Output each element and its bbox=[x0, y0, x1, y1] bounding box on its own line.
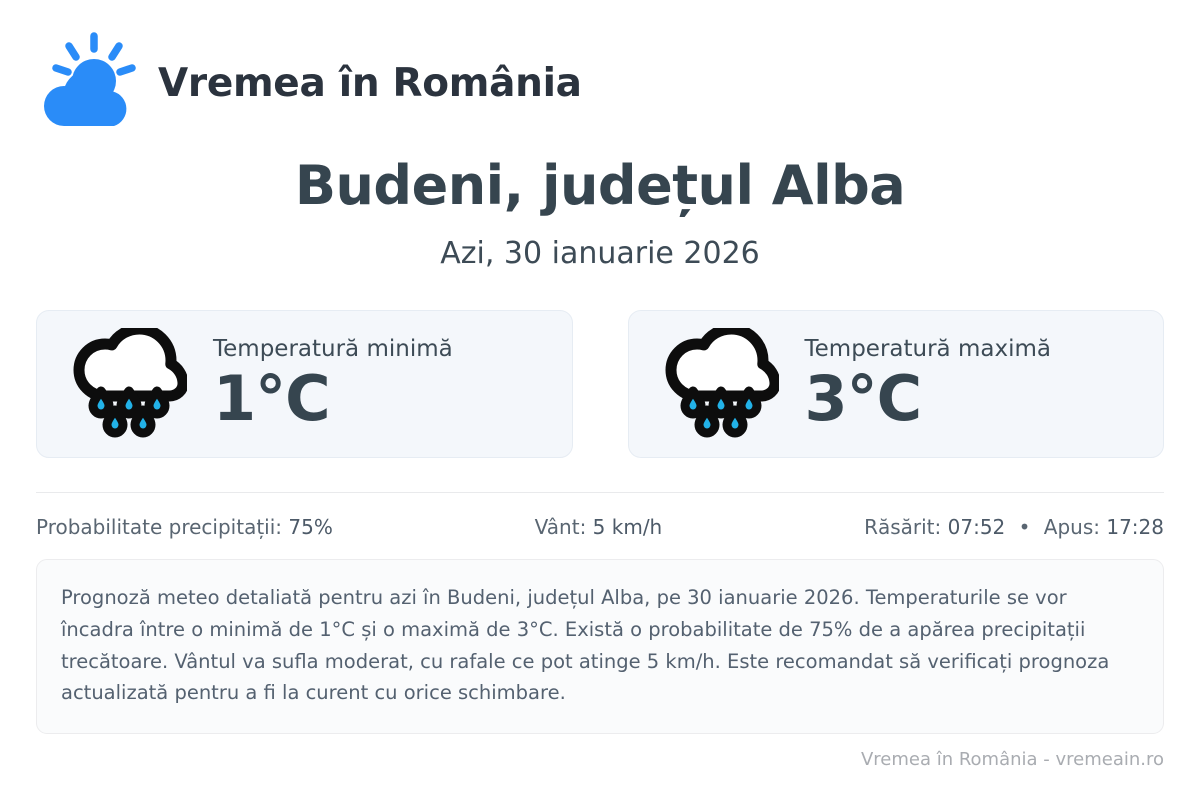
max-temperature-body: Temperatură maximă 3°C bbox=[805, 336, 1051, 433]
weather-page: Vremea în România Budeni, județul Alba A… bbox=[0, 0, 1200, 800]
wind-stat: Vânt: 5 km/h bbox=[333, 515, 864, 539]
forecast-description: Prognoză meteo detaliată pentru azi în B… bbox=[36, 559, 1164, 733]
sunset-value: 17:28 bbox=[1106, 515, 1164, 539]
min-temperature-value: 1°C bbox=[213, 366, 453, 433]
max-temperature-value: 3°C bbox=[805, 366, 1051, 433]
wind-value: 5 km/h bbox=[593, 515, 663, 539]
max-temperature-card: Temperatură maximă 3°C bbox=[628, 310, 1165, 458]
page-subtitle: Azi, 30 ianuarie 2026 bbox=[36, 237, 1164, 270]
section-divider bbox=[36, 492, 1164, 493]
temperature-cards: Temperatură minimă 1°C Temperatură maxim… bbox=[36, 310, 1164, 458]
page-title: Budeni, județul Alba bbox=[36, 156, 1164, 215]
min-temperature-body: Temperatură minimă 1°C bbox=[213, 336, 453, 433]
site-logo[interactable]: Vremea în România bbox=[36, 0, 1164, 118]
precipitation-value: 75% bbox=[288, 515, 332, 539]
min-temperature-label: Temperatură minimă bbox=[213, 336, 453, 364]
sun-behind-cloud-icon bbox=[36, 32, 140, 136]
sunset-label: Apus: bbox=[1044, 515, 1100, 539]
sun-times-stat: Răsărit: 07:52 • Apus: 17:28 bbox=[864, 515, 1164, 539]
precipitation-stat: Probabilitate precipitații: 75% bbox=[36, 515, 333, 539]
min-temperature-card: Temperatură minimă 1°C bbox=[36, 310, 573, 458]
footer-attribution: Vremea în România - vremeain.ro bbox=[861, 749, 1164, 770]
max-temperature-label: Temperatură maximă bbox=[805, 336, 1051, 364]
wind-label: Vânt: bbox=[535, 515, 587, 539]
rain-cloud-icon bbox=[663, 328, 779, 440]
rain-cloud-icon bbox=[71, 328, 187, 440]
sun-times-separator: • bbox=[1012, 515, 1038, 539]
site-logo-text: Vremea în România bbox=[158, 62, 582, 106]
sunrise-value: 07:52 bbox=[948, 515, 1006, 539]
sunrise-label: Răsărit: bbox=[864, 515, 941, 539]
precipitation-label: Probabilitate precipitații: bbox=[36, 515, 282, 539]
weather-stats-row: Probabilitate precipitații: 75% Vânt: 5 … bbox=[36, 515, 1164, 539]
